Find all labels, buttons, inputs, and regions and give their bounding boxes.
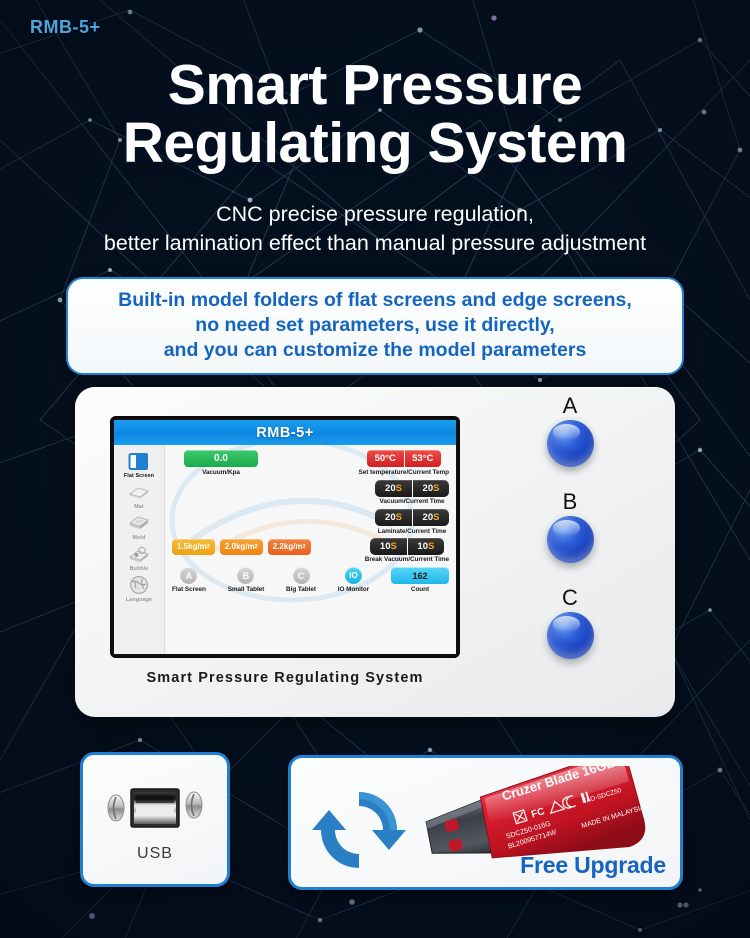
usb-label: USB bbox=[83, 845, 227, 863]
sidebar-label: Mat bbox=[134, 504, 144, 510]
knob-group-a: A bbox=[505, 395, 635, 467]
screen-sidebar: Flat Screen Mat bbox=[114, 445, 165, 654]
headline-line-2: Regulating System bbox=[0, 114, 750, 172]
laminate-time-pill: 20S 20S bbox=[375, 509, 449, 526]
refresh-arrows-icon bbox=[309, 780, 409, 885]
subtitle-line-1: CNC precise pressure regulation, bbox=[0, 200, 750, 229]
product-logo: RMB-5+ bbox=[30, 17, 101, 38]
knob-c[interactable] bbox=[547, 612, 594, 659]
feature-line-3: and you can customize the model paramete… bbox=[78, 338, 672, 363]
io-monitor-key: IO bbox=[345, 567, 362, 584]
break-vacuum-time-pill: 10S 10S bbox=[370, 538, 444, 555]
io-monitor-label: IO Monitor bbox=[338, 586, 369, 593]
screen-header-bar: RMB-5+ bbox=[114, 420, 456, 445]
laminate-time-caption: Laminate/Current Time bbox=[378, 528, 446, 535]
count-value: 162 bbox=[391, 567, 449, 584]
free-upgrade-headline: Free Upgrade bbox=[520, 852, 666, 879]
mode-a-label: Flat Screen bbox=[172, 586, 206, 593]
knob-group-c: C bbox=[505, 587, 635, 659]
temperature-set: 50°C bbox=[367, 450, 404, 467]
sidebar-label: Language bbox=[126, 597, 152, 603]
break-vacuum-set: 10S bbox=[370, 538, 407, 555]
mode-button-b[interactable]: B Small Tablet bbox=[228, 567, 265, 593]
io-monitor-button[interactable]: IO IO Monitor bbox=[338, 567, 369, 593]
knob-c-label: C bbox=[505, 587, 635, 609]
feature-line-1: Built-in model folders of flat screens a… bbox=[78, 288, 672, 313]
knob-group-b: B bbox=[505, 491, 635, 563]
sidebar-label: Bubble bbox=[130, 566, 149, 572]
vacuum-readout[interactable]: 0.0 Vacuum/Kpa bbox=[184, 450, 258, 476]
laminate-time-set: 20S bbox=[375, 509, 412, 526]
mold-icon bbox=[126, 512, 152, 534]
vacuum-value: 0.0 bbox=[184, 450, 258, 467]
mode-c-label: Big Tablet bbox=[286, 586, 316, 593]
vacuum-time-current: 20S bbox=[412, 480, 449, 497]
temperature-current: 53°C bbox=[404, 450, 441, 467]
globe-icon bbox=[126, 574, 152, 596]
screen-bezel: RMB-5+ Fla bbox=[110, 416, 460, 658]
headline-line-1: Smart Pressure bbox=[168, 53, 582, 117]
device-screen[interactable]: RMB-5+ Fla bbox=[114, 420, 456, 654]
screen-header-title: RMB-5+ bbox=[256, 425, 313, 441]
knob-b-label: B bbox=[505, 491, 635, 513]
pressure-preset-2[interactable]: 2.0kg/m2 bbox=[220, 539, 263, 555]
count-readout[interactable]: 162 Count bbox=[391, 567, 449, 593]
sidebar-label: Mold bbox=[133, 535, 146, 541]
count-label: Count bbox=[411, 586, 429, 593]
sidebar-item-mold[interactable]: Mold bbox=[114, 512, 164, 541]
sidebar-item-mat[interactable]: Mat bbox=[114, 481, 164, 510]
temperature-pill: 50°C 53°C bbox=[367, 450, 441, 467]
laminate-time-current: 20S bbox=[412, 509, 449, 526]
mode-button-c[interactable]: C Big Tablet bbox=[286, 567, 316, 593]
mat-icon bbox=[126, 481, 152, 503]
vacuum-caption: Vacuum/Kpa bbox=[202, 469, 240, 476]
mode-a-key: A bbox=[180, 567, 197, 584]
sidebar-item-flat-screen[interactable]: Flat Screen bbox=[114, 450, 164, 479]
break-vacuum-current: 10S bbox=[407, 538, 444, 555]
temperature-readout[interactable]: 50°C 53°C Set temperature/Current Temp bbox=[359, 450, 449, 476]
knob-a-label: A bbox=[505, 395, 635, 417]
subtitle-line-2: better lamination effect than manual pre… bbox=[0, 229, 750, 258]
sidebar-item-bubble[interactable]: Bubble bbox=[114, 543, 164, 572]
screen-body: Flat Screen Mat bbox=[114, 445, 456, 654]
break-vacuum-caption: Break Vacuum/Current Time bbox=[365, 556, 449, 563]
vacuum-time-set: 20S bbox=[375, 480, 412, 497]
break-vacuum-time-readout[interactable]: 10S 10S Break Vacuum/Current Time bbox=[365, 538, 449, 564]
mode-b-key: B bbox=[237, 567, 254, 584]
device-caption: Smart Pressure Regulating System bbox=[110, 670, 460, 686]
knob-b[interactable] bbox=[547, 516, 594, 563]
laminate-time-readout[interactable]: 20S 20S Laminate/Current Time bbox=[375, 509, 449, 535]
feature-callout-box: Built-in model folders of flat screens a… bbox=[66, 277, 684, 375]
page-subtitle: CNC precise pressure regulation, better … bbox=[0, 200, 750, 257]
device-unit: RMB-5+ Fla bbox=[75, 387, 675, 717]
feature-line-2: no need set parameters, use it directly, bbox=[78, 313, 672, 338]
temperature-caption: Set temperature/Current Temp bbox=[359, 469, 449, 476]
page-title: Smart Pressure Regulating System bbox=[0, 56, 750, 172]
flat-screen-icon bbox=[126, 450, 152, 472]
sidebar-label: Flat Screen bbox=[124, 473, 154, 479]
knob-a[interactable] bbox=[547, 420, 594, 467]
usb-port-icon bbox=[107, 783, 203, 838]
mode-b-label: Small Tablet bbox=[228, 586, 265, 593]
mode-button-a[interactable]: A Flat Screen bbox=[172, 567, 206, 593]
bubble-icon bbox=[126, 543, 152, 565]
vacuum-time-readout[interactable]: 20S 20S Vacuum/Current Time bbox=[375, 480, 449, 506]
free-upgrade-panel: Cruzer Blade 16GB FC SDCZ50-016G BL20095… bbox=[288, 755, 683, 890]
mode-c-key: C bbox=[293, 567, 310, 584]
screen-main-panel: 0.0 Vacuum/Kpa 50°C 53°C Set temperature… bbox=[165, 445, 456, 654]
usb-panel: USB bbox=[80, 752, 230, 887]
vacuum-time-pill: 20S 20S bbox=[375, 480, 449, 497]
pressure-preset-1[interactable]: 1.5kg/m2 bbox=[172, 539, 215, 555]
vacuum-time-caption: Vacuum/Current Time bbox=[380, 498, 445, 505]
pressure-preset-3[interactable]: 2.2kg/m2 bbox=[268, 539, 311, 555]
sidebar-item-language[interactable]: Language bbox=[114, 574, 164, 603]
